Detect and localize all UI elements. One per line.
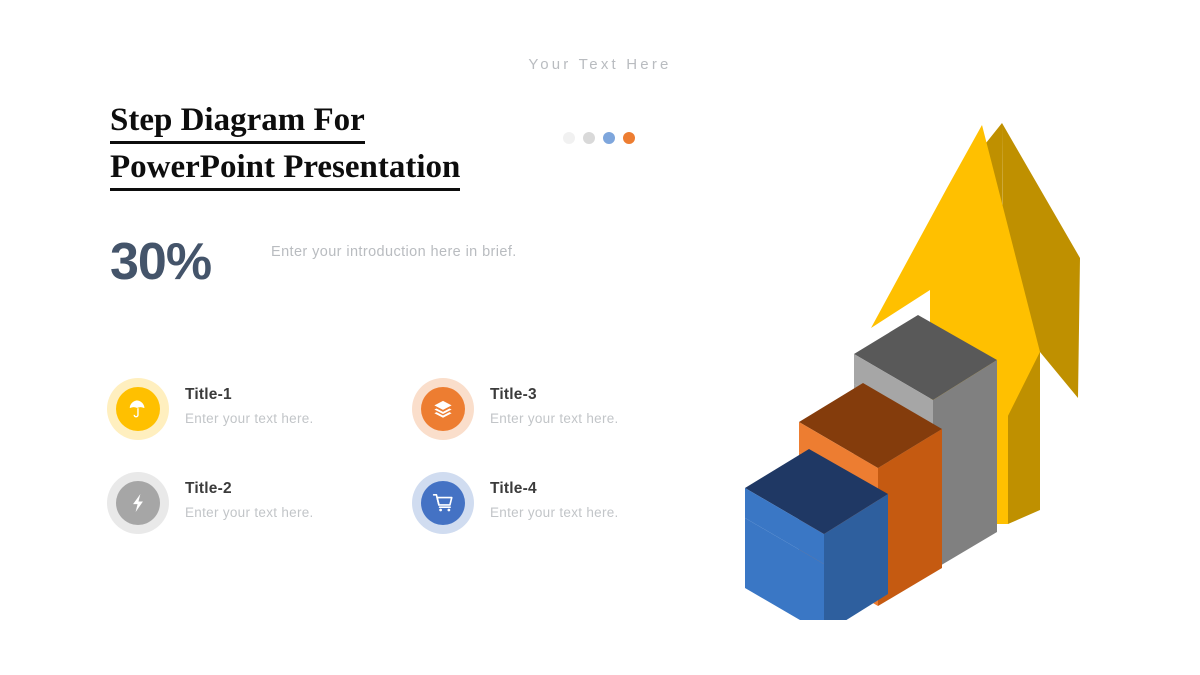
stat-percent-value: 30% — [110, 236, 211, 288]
feature-title-4: Title-4 — [490, 480, 537, 498]
feature-item-1[interactable]: Title-1 Enter your text here. — [105, 375, 405, 445]
pagination-dot-3[interactable] — [603, 132, 615, 144]
pagination-dots[interactable] — [563, 132, 635, 144]
shopping-cart-icon — [432, 492, 454, 514]
feature-item-2[interactable]: Title-2 Enter your text here. — [105, 469, 405, 539]
feature-badge-4[interactable] — [421, 481, 465, 525]
lightning-bolt-icon — [127, 492, 149, 514]
page-title: Step Diagram For PowerPoint Presentation — [110, 104, 580, 198]
3d-step-diagram-graphic — [740, 100, 1100, 620]
feature-title-1: Title-1 — [185, 386, 232, 404]
step-diagram-svg — [740, 100, 1100, 620]
feature-badge-2[interactable] — [116, 481, 160, 525]
headline-line-1: Step Diagram For — [110, 104, 365, 144]
pagination-dot-1[interactable] — [563, 132, 575, 144]
feature-title-2: Title-2 — [185, 480, 232, 498]
pagination-dot-4[interactable] — [623, 132, 635, 144]
pagination-dot-2[interactable] — [583, 132, 595, 144]
feature-title-3: Title-3 — [490, 386, 537, 404]
eyebrow-text: Your Text Here — [0, 56, 1200, 73]
feature-badge-1[interactable] — [116, 387, 160, 431]
slide-canvas: Your Text Here Step Diagram For PowerPoi… — [0, 0, 1200, 675]
stat-intro-text: Enter your introduction here in brief. — [271, 244, 517, 260]
stat-block: 30% Enter your introduction here in brie… — [110, 236, 630, 296]
layers-icon — [432, 398, 454, 420]
feature-item-3[interactable]: Title-3 Enter your text here. — [410, 375, 710, 445]
headline-line-2: PowerPoint Presentation — [110, 151, 460, 191]
feature-desc-4: Enter your text here. — [490, 505, 619, 520]
feature-desc-3: Enter your text here. — [490, 411, 619, 426]
feature-desc-1: Enter your text here. — [185, 411, 314, 426]
feature-desc-2: Enter your text here. — [185, 505, 314, 520]
feature-list: Title-1 Enter your text here. Title-2 En… — [105, 375, 725, 560]
umbrella-icon — [127, 398, 149, 420]
feature-badge-3[interactable] — [421, 387, 465, 431]
feature-item-4[interactable]: Title-4 Enter your text here. — [410, 469, 710, 539]
